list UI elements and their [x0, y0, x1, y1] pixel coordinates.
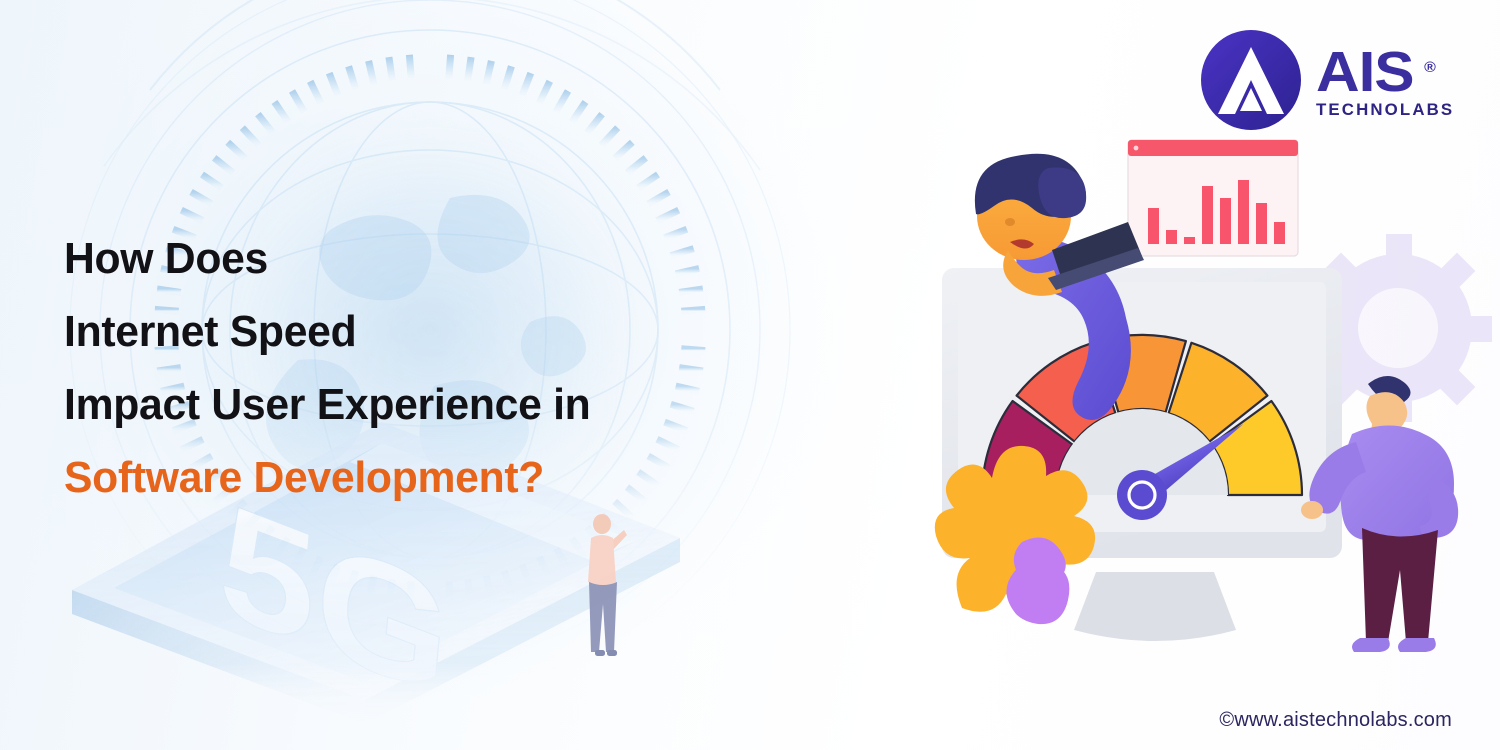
logo-subtitle: TECHNOLABS	[1316, 101, 1454, 120]
registered-trademark-icon: ®	[1424, 42, 1435, 94]
dashboard-window	[1128, 140, 1298, 256]
coral-plant	[935, 446, 1095, 624]
headline-line-3: Impact User Experience in	[64, 368, 898, 441]
headline-line-2: Internet Speed	[64, 295, 898, 368]
monitor-stand	[1074, 572, 1236, 641]
logo-word-text: AIS	[1316, 40, 1414, 104]
headline-line-1: How Does	[64, 222, 898, 295]
logo-wordmark: AIS ® TECHNOLABS	[1316, 40, 1452, 120]
gauge-hub	[1117, 470, 1167, 520]
blog-banner: 5G How Does Internet Speed	[0, 0, 1500, 750]
person-standing-small	[578, 508, 628, 688]
page-title: How Does Internet Speed Impact User Expe…	[64, 222, 924, 514]
internet-speed-gauge-illustration	[900, 120, 1500, 700]
ais-triangle-mark-icon	[1199, 28, 1303, 132]
brand-logo[interactable]: AIS ® TECHNOLABS	[1199, 28, 1452, 132]
pants	[1362, 528, 1438, 642]
headline-line-4: Software Development?	[64, 441, 898, 514]
site-url[interactable]: ©www.aistechnolabs.com	[1219, 709, 1452, 732]
hand	[1301, 501, 1323, 519]
logo-word-ais: AIS ®	[1316, 46, 1414, 98]
